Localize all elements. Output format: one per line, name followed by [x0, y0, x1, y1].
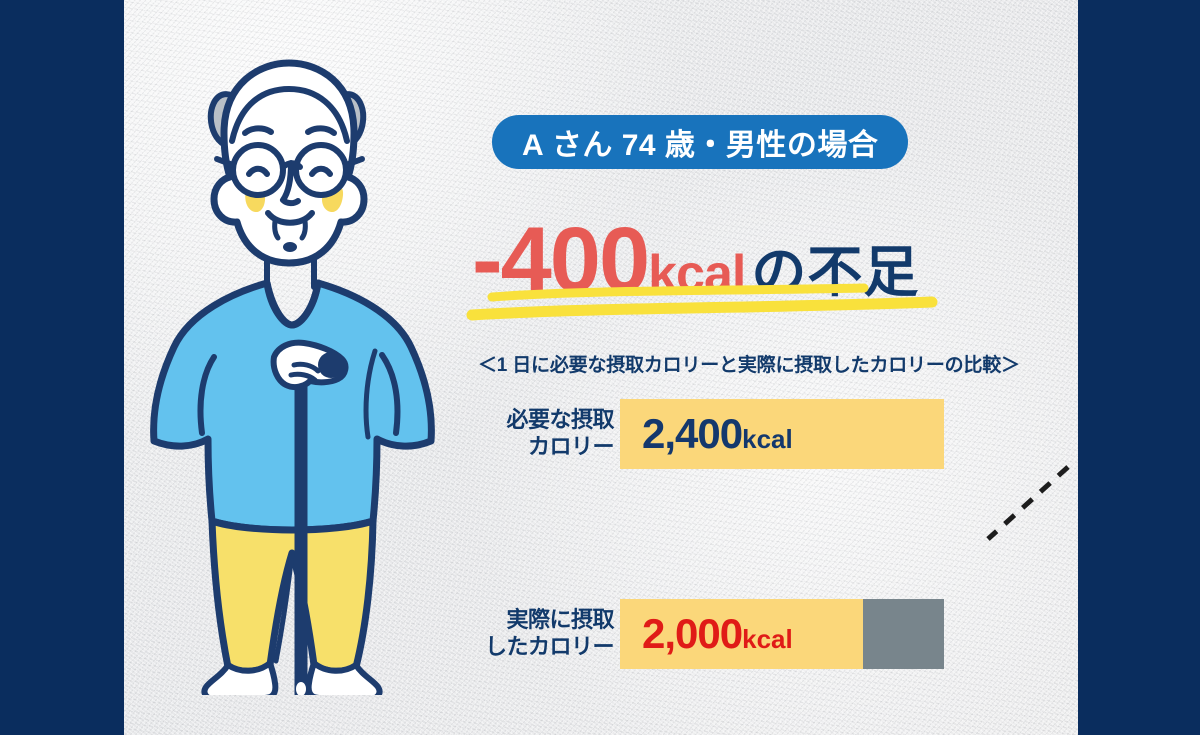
paper-card: A さん 74 歳・男性の場合 -400kcalの不足 ＜1 日に必要な摂取カロ… — [124, 0, 1078, 735]
bar-track-required: 2,400kcal — [620, 399, 944, 469]
infographic-canvas: A さん 74 歳・男性の場合 -400kcalの不足 ＜1 日に必要な摂取カロ… — [0, 0, 1200, 735]
bar-value-unit: kcal — [742, 624, 793, 654]
chart-row-actual: 実際に摂取 したカロリー 2,000kcal — [474, 599, 1074, 669]
bar-value-actual: 2,000kcal — [620, 610, 793, 658]
bar-label-line1: 必要な摂取 — [506, 407, 614, 432]
elderly-man-illustration — [128, 55, 508, 695]
chart-caption: ＜1 日に必要な摂取カロリーと実際に摂取したカロリーの比較＞ — [478, 350, 1020, 377]
chart-row-required: 必要な摂取 カロリー 2,400kcal — [474, 399, 1074, 469]
bar-track-actual: 2,000kcal — [620, 599, 944, 669]
bar-label-actual: 実際に摂取 したカロリー — [474, 607, 614, 661]
bar-label-required: 必要な摂取 カロリー — [474, 407, 614, 461]
person-badge: A さん 74 歳・男性の場合 — [492, 115, 908, 169]
bar-fill-required: 2,400kcal — [620, 399, 944, 469]
bar-deficit-block — [863, 599, 944, 669]
bar-value-number: 2,000 — [642, 610, 742, 657]
headline-number: -400 — [472, 209, 648, 311]
bar-fill-actual: 2,000kcal — [620, 599, 863, 669]
bar-label-line1: 実際に摂取 — [506, 607, 614, 632]
bar-value-number: 2,400 — [642, 410, 742, 457]
bar-value-required: 2,400kcal — [620, 410, 793, 458]
bar-value-unit: kcal — [742, 424, 793, 454]
deficit-connector-dashed-line — [944, 455, 1078, 555]
headline-tail: の不足 — [751, 241, 919, 303]
bar-label-line2: カロリー — [528, 434, 614, 459]
headline-deficit: -400kcalの不足 — [472, 214, 919, 306]
headline-unit: kcal — [648, 245, 745, 303]
bar-label-line2: したカロリー — [485, 634, 614, 659]
